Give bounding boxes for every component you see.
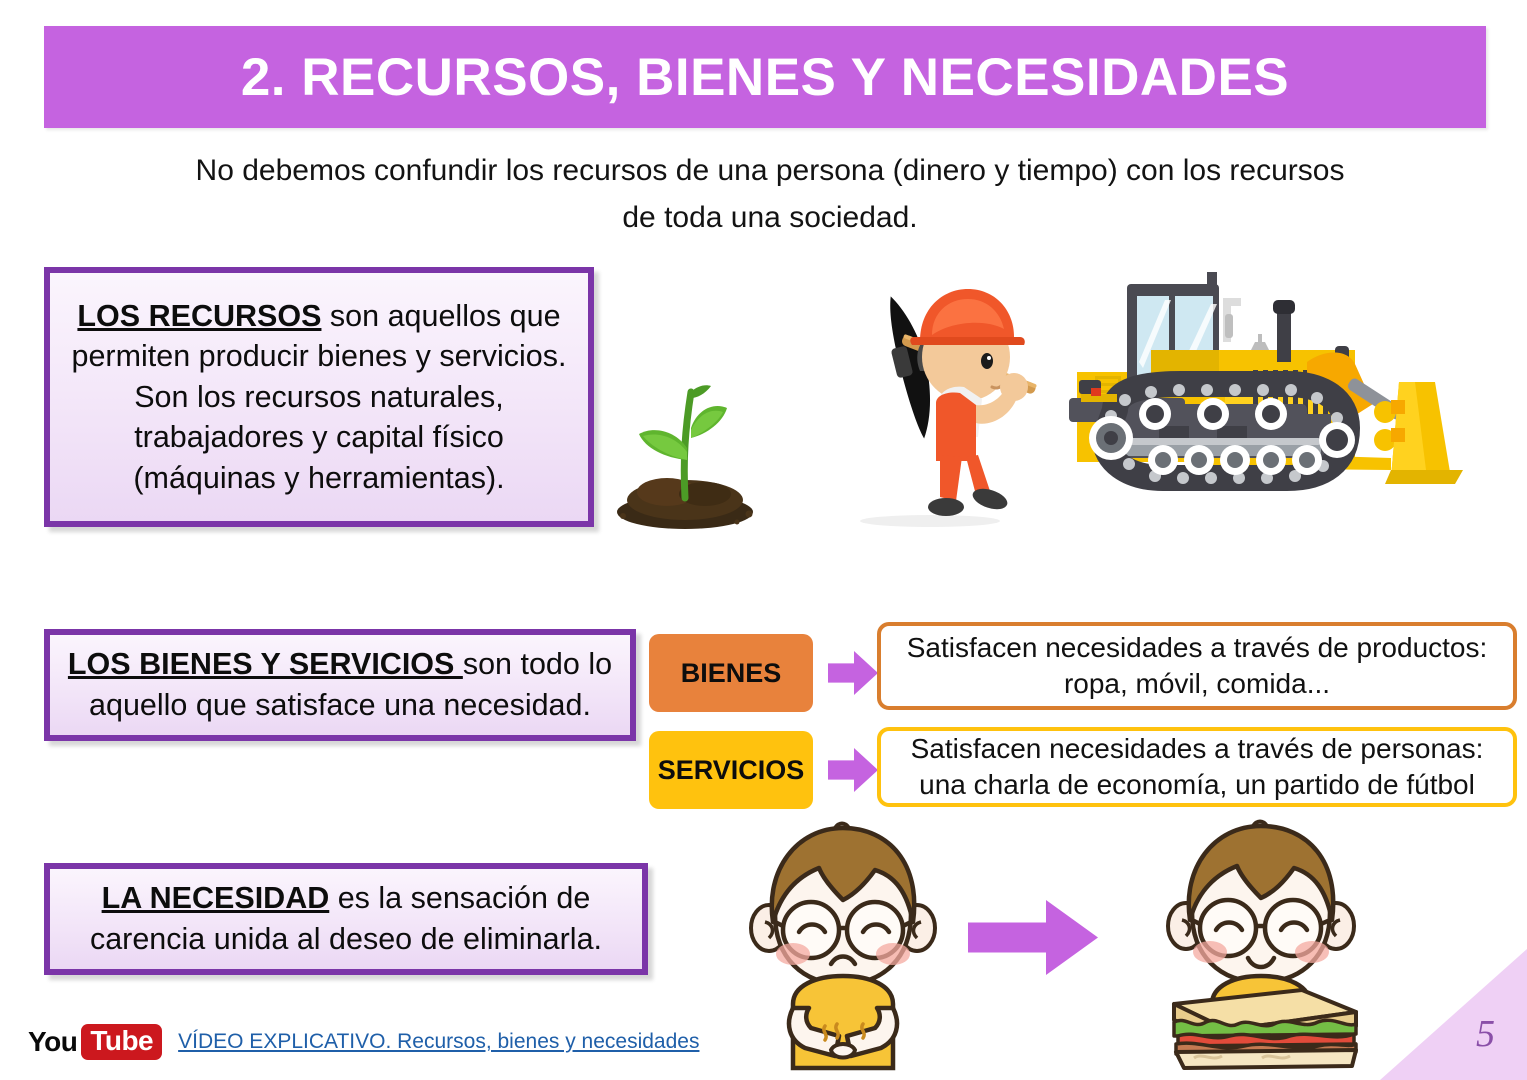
definition-text-recursos: LOS RECURSOS son aquellos que permiten p… bbox=[50, 296, 588, 499]
definition-term-necesidad: LA NECESIDAD bbox=[102, 881, 330, 915]
bulldozer-icon bbox=[1055, 272, 1495, 517]
definition-term-bienes-servicios: LOS BIENES Y SERVICIOS bbox=[68, 647, 463, 681]
youtube-logo: You Tube bbox=[28, 1024, 162, 1060]
page-title: 2. RECURSOS, BIENES Y NECESIDADES bbox=[241, 47, 1289, 108]
seedling-icon bbox=[605, 330, 765, 530]
bulldozer-illustration bbox=[1055, 272, 1495, 517]
seedling-illustration bbox=[605, 330, 765, 530]
badge-servicios: SERVICIOS bbox=[649, 731, 813, 809]
worker-with-pickaxe-icon bbox=[790, 275, 1040, 530]
youtube-link-row[interactable]: You Tube VÍDEO EXPLICATIVO. Recursos, bi… bbox=[28, 1024, 699, 1060]
youtube-logo-tube: Tube bbox=[81, 1024, 162, 1060]
definition-text-bienes-servicios: LOS BIENES Y SERVICIOS son todo lo aquel… bbox=[50, 644, 630, 725]
definition-term-recursos: LOS RECURSOS bbox=[77, 299, 321, 333]
description-box-servicios: Satisfacen necesidades a través de perso… bbox=[877, 727, 1517, 807]
video-explicativo-link[interactable]: VÍDEO EXPLICATIVO. Recursos, bienes y ne… bbox=[178, 1030, 699, 1054]
definition-box-recursos: LOS RECURSOS son aquellos que permiten p… bbox=[44, 267, 594, 527]
definition-box-bienes-servicios: LOS BIENES Y SERVICIOS son todo lo aquel… bbox=[44, 629, 636, 741]
definition-box-necesidad: LA NECESIDAD es la sensación de carencia… bbox=[44, 863, 648, 975]
corner-decoration bbox=[1380, 949, 1527, 1080]
slide-title-bar: 2. RECURSOS, BIENES Y NECESIDADES bbox=[44, 26, 1486, 128]
hungry-boy-illustration bbox=[735, 818, 950, 1073]
transformation-arrow-icon bbox=[968, 900, 1098, 975]
page-number: 5 bbox=[1476, 1012, 1495, 1056]
badge-bienes: BIENES bbox=[649, 634, 813, 712]
right-arrow-icon-servicios bbox=[828, 748, 878, 792]
slide-canvas: 2. RECURSOS, BIENES Y NECESIDADES No deb… bbox=[0, 0, 1527, 1080]
slide-subtitle: No debemos confundir los recursos de una… bbox=[180, 148, 1360, 241]
happy-boy-with-sandwich-icon bbox=[1150, 818, 1380, 1073]
definition-text-necesidad: LA NECESIDAD es la sensación de carencia… bbox=[50, 878, 642, 959]
hungry-boy-icon bbox=[735, 818, 950, 1073]
right-arrow-icon-bienes bbox=[828, 651, 878, 695]
happy-boy-illustration bbox=[1150, 818, 1380, 1073]
miner-illustration bbox=[790, 275, 1040, 530]
youtube-logo-you: You bbox=[28, 1026, 77, 1058]
description-box-bienes: Satisfacen necesidades a través de produ… bbox=[877, 622, 1517, 710]
